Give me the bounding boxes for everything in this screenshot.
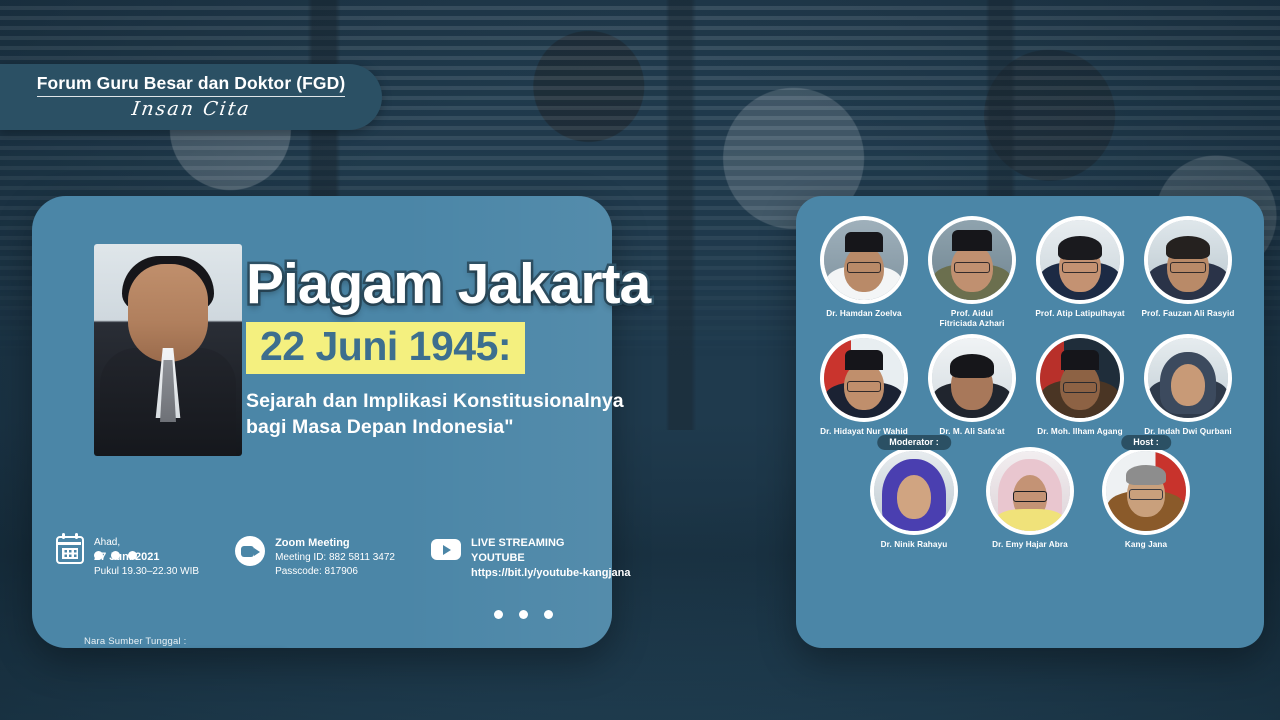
participants-row-3: Moderator : Dr. Ninik Rahayu: [810, 447, 1250, 550]
participant-name: Dr. Hamdan Zoelva: [826, 309, 901, 319]
participant: Dr. Hamdan Zoelva: [810, 216, 918, 330]
participants-panel: Dr. Hamdan Zoelva: [796, 196, 1264, 648]
avatar: [1036, 334, 1124, 422]
participant: Dr. M. Ali Safa'at: [918, 334, 1026, 437]
video-camera-icon: [235, 536, 265, 566]
participant-name: Dr. Emy Hajar Abra: [992, 540, 1068, 550]
participant-name: Kang Jana: [1125, 540, 1167, 550]
participants-row-1: Dr. Hamdan Zoelva: [810, 216, 1250, 330]
participants-row-2: Dr. Hidayat Nur Wahid: [810, 334, 1250, 437]
info-youtube-title: LIVE STREAMING: [471, 536, 631, 551]
participant-host: Host :: [1092, 447, 1200, 550]
participant-name: Dr. Ninik Rahayu: [881, 540, 948, 550]
avatar: [820, 334, 908, 422]
info-date-day: Ahad,: [94, 536, 199, 550]
youtube-play-icon: [431, 536, 461, 560]
host-role-chip: Host :: [1121, 435, 1171, 450]
participant: Prof. AidulFitriciada Azhari: [918, 216, 1026, 330]
info-date-text: Ahad, 27 Juni 2021 Pukul 19.30–22.30 WIB: [94, 536, 199, 579]
participant-name: Dr. M. Ali Safa'at: [939, 427, 1004, 437]
avatar: [1144, 334, 1232, 422]
participant-name: Prof. Atip Latipulhayat: [1035, 309, 1124, 319]
participant: Dr. Hidayat Nur Wahid: [810, 334, 918, 437]
event-info-row: Ahad, 27 Juni 2021 Pukul 19.30–22.30 WIB…: [56, 536, 631, 582]
participant-name: Prof. AidulFitriciada Azhari: [939, 309, 1004, 330]
info-zoom-text: Zoom Meeting Meeting ID: 882 5811 3472 P…: [275, 536, 395, 579]
avatar: [928, 334, 1016, 422]
info-date: Ahad, 27 Juni 2021 Pukul 19.30–22.30 WIB: [56, 536, 199, 579]
speaker-face: [128, 264, 208, 362]
participant: Dr. Moh. Ilham Agang: [1026, 334, 1134, 437]
decor-dots-bottom: [494, 610, 553, 619]
participant: Prof. Atip Latipulhayat: [1026, 216, 1134, 330]
participant: Prof. Fauzan Ali Rasyid: [1134, 216, 1242, 330]
speaker-role-label: Nara Sumber Tunggal :: [84, 636, 186, 647]
info-youtube[interactable]: LIVE STREAMING YOUTUBE https://bit.ly/yo…: [431, 536, 631, 582]
calendar-icon: [56, 536, 84, 564]
info-date-full: 27 Juni 2021: [94, 550, 199, 565]
avatar: [1036, 216, 1124, 304]
webinar-poster: Forum Guru Besar dan Doktor (FGD) Insan …: [0, 0, 1280, 720]
info-youtube-text: LIVE STREAMING YOUTUBE https://bit.ly/yo…: [471, 536, 631, 582]
event-subtitle: Sejarah dan Implikasi Konstitusionalnya …: [246, 388, 726, 440]
avatar: [820, 216, 908, 304]
info-youtube-link[interactable]: https://bit.ly/youtube-kangjana: [471, 566, 631, 581]
event-date-highlight: 22 Juni 1945:: [246, 322, 525, 374]
avatar: [870, 447, 958, 535]
forum-title: Forum Guru Besar dan Doktor (FGD): [37, 74, 346, 96]
event-subtitle-line1: Sejarah dan Implikasi Konstitusionalnya: [246, 388, 726, 414]
info-youtube-platform: YOUTUBE: [471, 551, 631, 566]
keynote-speaker-photo: [94, 244, 242, 456]
participant-name: Prof. Fauzan Ali Rasyid: [1142, 309, 1235, 319]
forum-header-ribbon: Forum Guru Besar dan Doktor (FGD) Insan …: [0, 64, 382, 130]
info-zoom-passcode: Passcode: 817906: [275, 565, 395, 579]
moderator-role-chip: Moderator :: [877, 435, 951, 450]
event-subtitle-line2: bagi Masa Depan Indonesia": [246, 414, 726, 440]
participant-moderator: Moderator : Dr. Ninik Rahayu: [860, 447, 968, 550]
forum-subtitle-script: Insan Cita: [130, 98, 252, 120]
avatar: [1102, 447, 1190, 535]
participant-name: Dr. Moh. Ilham Agang: [1037, 427, 1122, 437]
event-title: Piagam Jakarta: [246, 256, 726, 313]
participant: Dr. Emy Hajar Abra: [976, 447, 1084, 550]
info-zoom[interactable]: Zoom Meeting Meeting ID: 882 5811 3472 P…: [235, 536, 395, 579]
avatar: [928, 216, 1016, 304]
info-zoom-title: Zoom Meeting: [275, 536, 395, 551]
info-zoom-id: Meeting ID: 882 5811 3472: [275, 551, 395, 565]
avatar: [986, 447, 1074, 535]
info-date-time: Pukul 19.30–22.30 WIB: [94, 565, 199, 579]
participant: Dr. Indah Dwi Qurbani: [1134, 334, 1242, 437]
headline-block: Piagam Jakarta 22 Juni 1945: Sejarah dan…: [246, 256, 726, 440]
participants-grid: Dr. Hamdan Zoelva: [810, 216, 1250, 550]
avatar: [1144, 216, 1232, 304]
